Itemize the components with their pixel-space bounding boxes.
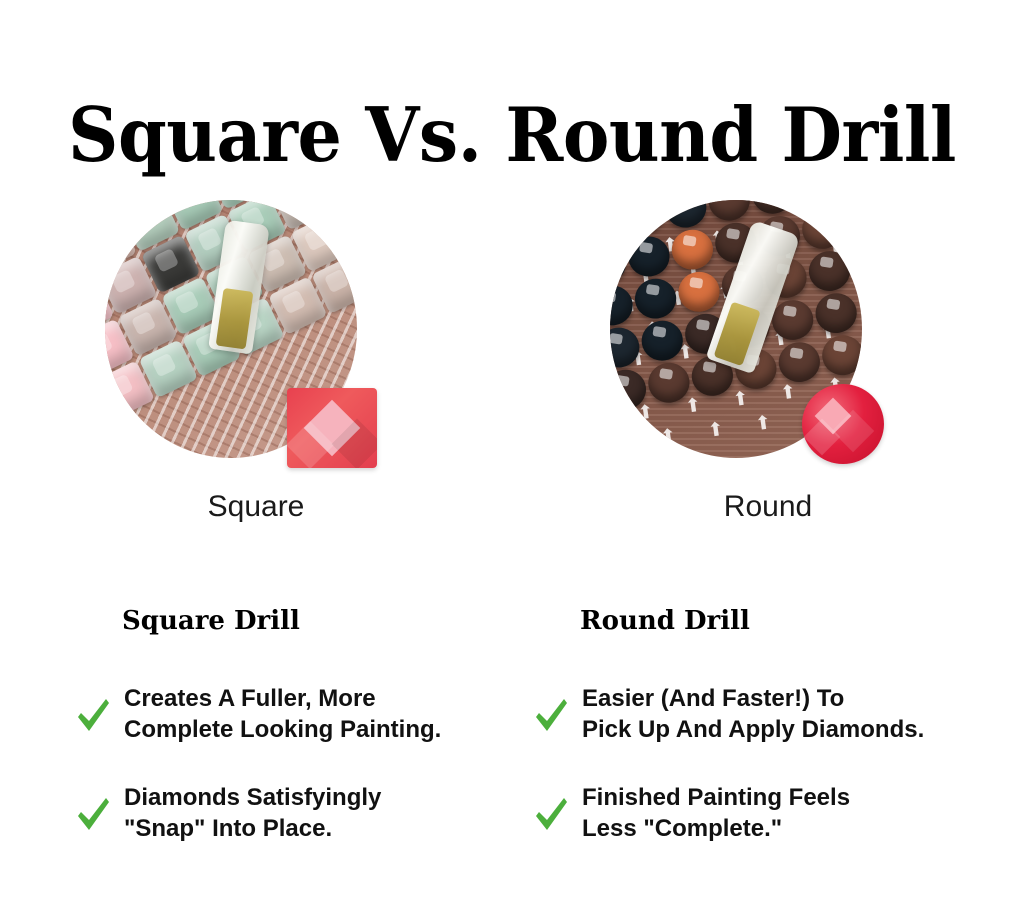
list-item-label: Easier (And Faster!) To Pick Up And Appl… <box>582 684 924 745</box>
photo-comparison: Square ⬆ ⬆ ⬆ ⬆ ⬆ ⬆ ⬆ ⬆ ⬆ ⬆ ⬆ ⬆ ⬆ ⬆ ⬆ ⬆ ⬆… <box>0 198 1024 538</box>
round-gem-inset <box>802 384 884 464</box>
photo-panel-round: ⬆ ⬆ ⬆ ⬆ ⬆ ⬆ ⬆ ⬆ ⬆ ⬆ ⬆ ⬆ ⬆ ⬆ ⬆ ⬆ ⬆ ⬆ ⬆ ⬆ … <box>512 198 1024 538</box>
photo-panel-square: Square <box>0 198 512 538</box>
column-heading-square-drill: Square Drill <box>122 606 592 636</box>
photo-caption-square: Square <box>0 490 512 524</box>
check-icon <box>534 794 568 834</box>
feature-comparison: Square Drill Creates A Fuller, More Comp… <box>0 606 1024 886</box>
check-icon <box>76 695 110 735</box>
list-item: Finished Painting Feels Less "Complete." <box>580 783 1024 844</box>
square-photo-wrap <box>105 198 373 466</box>
page-title: Square Vs. Round Drill <box>36 96 988 175</box>
pen-wax <box>216 288 254 350</box>
pen-wax <box>714 302 761 367</box>
photo-caption-round: Round <box>512 490 1024 524</box>
list-item: Creates A Fuller, More Complete Looking … <box>122 684 592 745</box>
check-icon <box>534 695 568 735</box>
round-photo-wrap: ⬆ ⬆ ⬆ ⬆ ⬆ ⬆ ⬆ ⬆ ⬆ ⬆ ⬆ ⬆ ⬆ ⬆ ⬆ ⬆ ⬆ ⬆ ⬆ ⬆ … <box>610 198 878 466</box>
column-round-drill: Round Drill Easier (And Faster!) To Pick… <box>580 606 1024 883</box>
list-item: Diamonds Satisfyingly "Snap" Into Place. <box>122 783 592 844</box>
column-square-drill: Square Drill Creates A Fuller, More Comp… <box>122 606 592 883</box>
list-item: Easier (And Faster!) To Pick Up And Appl… <box>580 684 1024 745</box>
check-icon <box>76 794 110 834</box>
column-heading-round-drill: Round Drill <box>580 606 1024 636</box>
list-item-label: Creates A Fuller, More Complete Looking … <box>124 684 441 745</box>
list-item-label: Finished Painting Feels Less "Complete." <box>582 783 850 844</box>
square-gem-inset <box>287 388 377 468</box>
list-item-label: Diamonds Satisfyingly "Snap" Into Place. <box>124 783 381 844</box>
